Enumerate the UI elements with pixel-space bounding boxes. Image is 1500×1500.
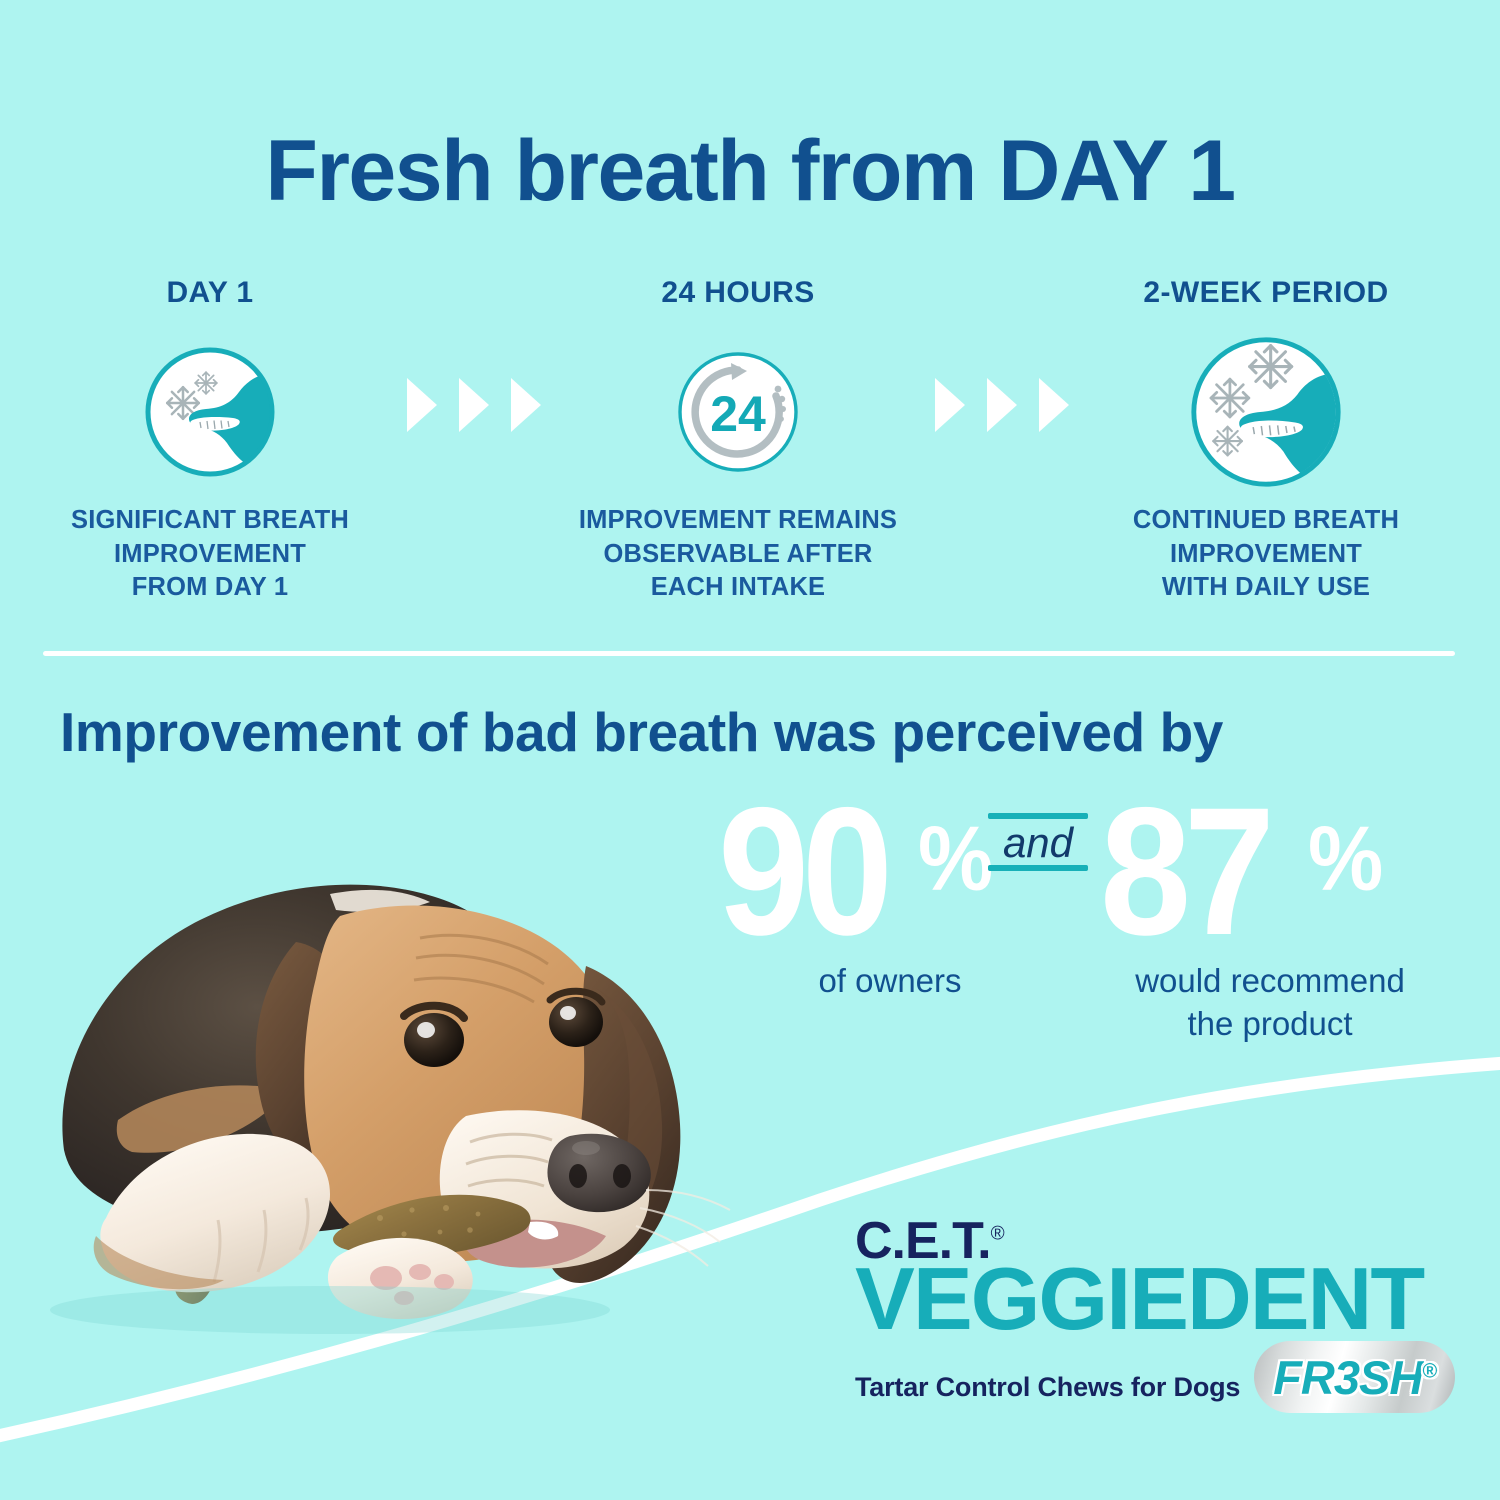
section-heading: Improvement of bad breath was perceived … [60, 700, 1450, 764]
dog-muzzle-snowflake-icon [1188, 342, 1344, 482]
statistics-block: 90 % and 87 % of owners would recommend … [700, 775, 1460, 1035]
brand-logo: C.E.T.® VEGGIEDENT Tartar Control Chews … [855, 1215, 1455, 1405]
arrow-right-icon [935, 378, 965, 432]
conjunction-label: and [988, 819, 1088, 865]
registered-trademark-icon: ® [1422, 1360, 1436, 1382]
timeline-step-2-week-period: 2-WEEK PERIOD [1096, 278, 1436, 605]
step-description: IMPROVEMENT REMAINS OBSERVABLE AFTER EAC… [579, 504, 897, 605]
variant-name: FR3SH® [1273, 1350, 1436, 1405]
timeline-step-day-1: DAY 1 [40, 278, 380, 605]
arrow-right-icon [407, 378, 437, 432]
timeline-step-24-hours: 24 HOURS 24 IMPROVEMENT REMAINS OBSERVAB… [568, 278, 908, 605]
section-divider [43, 651, 1455, 656]
step-label: DAY 1 [166, 278, 253, 316]
registered-trademark-icon: ® [991, 1224, 1004, 1245]
step-label: 24 HOURS [661, 278, 814, 316]
step-label: 2-WEEK PERIOD [1143, 278, 1388, 316]
arrow-right-icon [511, 378, 541, 432]
page-title: Fresh breath from DAY 1 [0, 128, 1500, 214]
arrow-group-2 [908, 378, 1096, 432]
step-description: SIGNIFICANT BREATH IMPROVEMENT FROM DAY … [71, 504, 349, 605]
stat-caption-recommend: would recommend the product [1100, 960, 1440, 1046]
clock-icon-value: 24 [710, 386, 766, 442]
product-tagline: Tartar Control Chews for Dogs [855, 1372, 1240, 1413]
stat-percent-sign: % [1308, 813, 1383, 905]
variant-name-text: FR3SH [1273, 1351, 1422, 1404]
variant-badge: FR3SH® [1254, 1341, 1455, 1413]
stat-number-87: 87 [1100, 780, 1268, 962]
clock-24-hours-icon: 24 [675, 342, 801, 482]
dog-muzzle-snowflake-icon [143, 342, 277, 482]
stat-conjunction: and [988, 813, 1088, 871]
stat-number-90: 90 [718, 780, 886, 962]
step-description: CONTINUED BREATH IMPROVEMENT WITH DAILY … [1133, 504, 1399, 605]
stat-percent-sign: % [918, 813, 993, 905]
stat-caption-owners: of owners [780, 960, 1000, 1003]
product-name: VEGGIEDENT [855, 1263, 1467, 1335]
arrow-group-1 [380, 378, 568, 432]
arrow-right-icon [987, 378, 1017, 432]
arrow-right-icon [459, 378, 489, 432]
arrow-right-icon [1039, 378, 1069, 432]
timeline-steps: DAY 1 [40, 278, 1460, 623]
beagle-puppy-photo [0, 790, 740, 1350]
